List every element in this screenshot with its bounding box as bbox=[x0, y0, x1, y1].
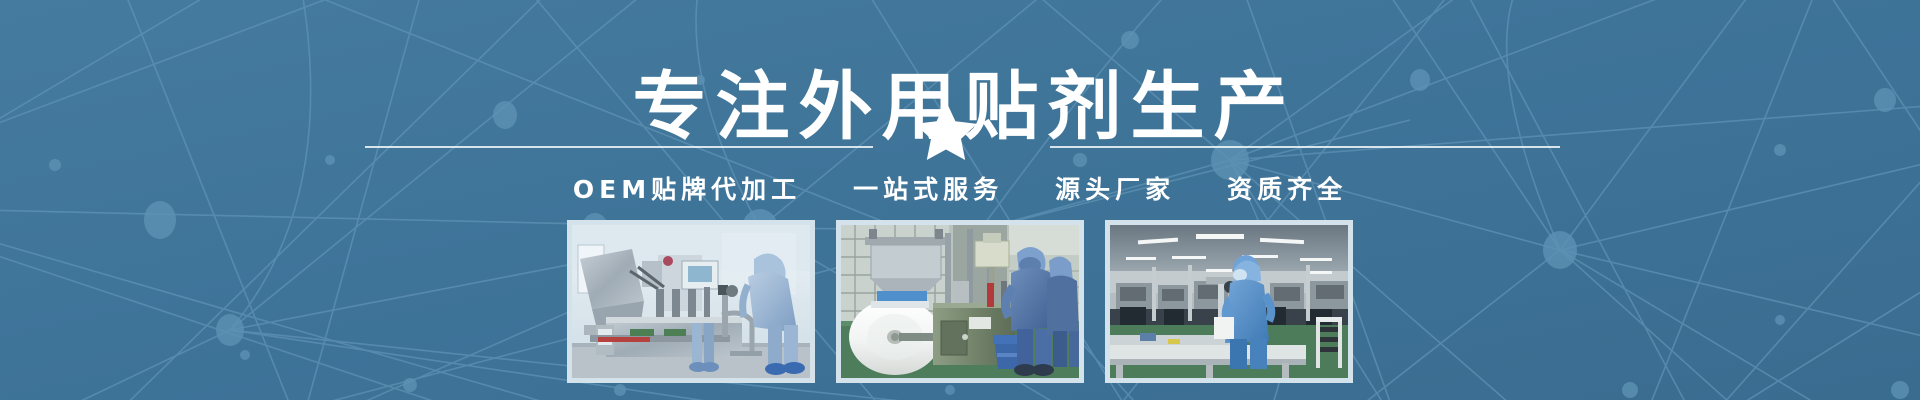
photo-packaging-workshop bbox=[1105, 220, 1353, 383]
divider-line-right bbox=[1050, 146, 1560, 148]
feature-list: OEM贴牌代加工 一站式服务 源头厂家 资质齐全 bbox=[0, 173, 1920, 207]
divider-line-left bbox=[365, 146, 873, 148]
feature-item-one-stop-service: 一站式服务 bbox=[853, 173, 1003, 207]
photo-coating-machine-image bbox=[841, 225, 1079, 378]
feature-item-source-factory: 源头厂家 bbox=[1055, 173, 1175, 207]
photo-strip bbox=[567, 220, 1353, 383]
feature-item-qualifications: 资质齐全 bbox=[1227, 173, 1347, 207]
photo-filling-line-image bbox=[572, 225, 810, 378]
feature-item-oem: OEM贴牌代加工 bbox=[573, 173, 801, 207]
photo-filling-line bbox=[567, 220, 815, 383]
promo-banner: 专注外用贴剂生产 OEM贴牌代加工 一站式服务 源头厂家 资质齐全 bbox=[0, 0, 1920, 400]
photo-packaging-workshop-image bbox=[1110, 225, 1348, 378]
star-icon bbox=[915, 100, 977, 160]
photo-coating-machine bbox=[836, 220, 1084, 383]
